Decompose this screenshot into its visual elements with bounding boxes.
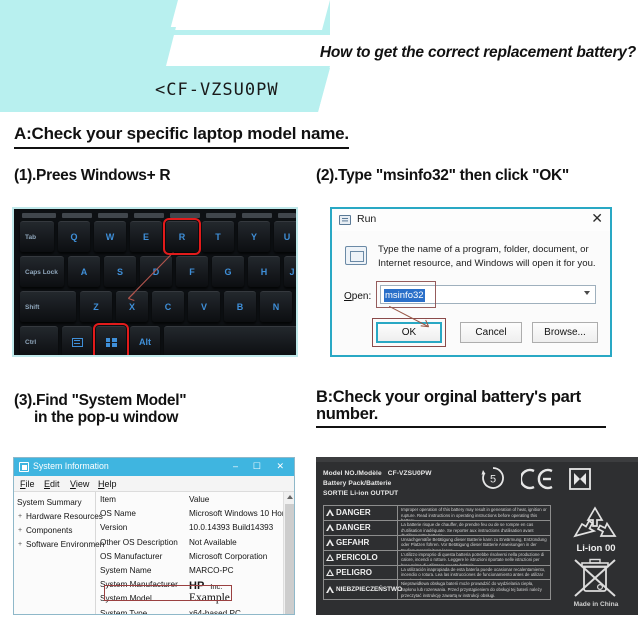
battery-model-block: Model NO./ModèleCF-VZSU0PW Battery Pack/…	[323, 469, 432, 500]
cancel-button[interactable]: Cancel	[460, 322, 522, 343]
step-1-label: (1).Prees Windows+ R	[14, 167, 170, 184]
key-w[interactable]: W	[94, 221, 126, 252]
vertical-scrollbar[interactable]	[283, 492, 294, 614]
step-3-label: (3).Find "System Model" in the pop-u win…	[14, 392, 186, 427]
open-label: Open:	[344, 291, 371, 302]
warning-triangle-icon	[326, 524, 334, 531]
table-row[interactable]: OS Manufacturer Microsoft Corporation	[97, 552, 283, 566]
chevron-down-icon[interactable]	[584, 291, 590, 295]
key-e[interactable]: E	[130, 221, 162, 252]
menu-icon[interactable]	[62, 326, 92, 357]
rohs-5-icon: 5	[481, 466, 505, 490]
windows-icon[interactable]	[96, 326, 126, 357]
row-value: Not Available	[189, 538, 237, 547]
row-item: System Name	[100, 566, 151, 575]
row-value: MARCO-PC	[189, 566, 234, 575]
key-r[interactable]: R	[166, 221, 198, 252]
key-caps-lock[interactable]: Caps Lock	[20, 256, 64, 287]
menu-help[interactable]: Help	[98, 479, 117, 489]
battery-pack-label: Battery Pack/Batterie	[323, 479, 432, 489]
recycle-triangle-icon	[568, 505, 622, 541]
section-a-title: A:Check your specific laptop model name.	[14, 124, 349, 149]
run-dialog: Run ✕ Type the name of a program, folder…	[330, 207, 612, 357]
key-y[interactable]: Y	[238, 221, 270, 252]
scrollbar-thumb[interactable]	[285, 504, 294, 615]
scroll-up-icon[interactable]	[287, 495, 293, 499]
warning-language: GEFAHR	[324, 536, 398, 550]
warning-language: PERICOLO	[324, 551, 398, 565]
warning-text: La batterie risque de chauffer, de prend…	[398, 521, 550, 535]
run-info-icon	[345, 246, 367, 265]
sysinfo-tree: System Summary Hardware Resources Compon…	[14, 492, 96, 614]
key-t[interactable]: T	[202, 221, 234, 252]
key-z[interactable]: Z	[80, 291, 112, 322]
system-information-window: System Information – ☐ ✕ File Edit View …	[13, 457, 295, 615]
battery-chemistry-label: Li-ion 00	[564, 543, 628, 554]
row-item: OS Manufacturer	[100, 552, 162, 561]
run-message: Type the name of a program, folder, docu…	[378, 243, 600, 270]
row-item: System Type	[100, 609, 147, 616]
warning-text: Nieprawidłowa obsługa baterii może prowa…	[398, 580, 550, 599]
page-header: How to get the correct replacement batte…	[0, 0, 640, 112]
key-j[interactable]: J	[284, 256, 298, 287]
row-value: Microsoft Windows 10 Home	[189, 509, 293, 518]
sysinfo-title: System Information	[33, 461, 109, 471]
warning-language: PELIGRO	[324, 566, 398, 580]
battery-model-label: Model NO./Modèle	[323, 470, 382, 477]
menu-view[interactable]: View	[70, 479, 89, 489]
warning-row: PELIGRO La utilización inapropiada de es…	[324, 566, 550, 581]
battery-warning-table: DANGER Improper operation of this batter…	[323, 505, 551, 600]
key-ctrl[interactable]: Ctrl	[20, 326, 58, 357]
battery-model-value: CF-VZSU0PW	[388, 470, 432, 477]
row-value: Microsoft Corporation	[189, 552, 267, 561]
table-row[interactable]: System Type x64-based PC	[97, 609, 283, 616]
warning-text: Improper operation of this battery may r…	[398, 506, 550, 520]
warning-text: L'utilizzo improprio di questa batteria …	[398, 551, 550, 565]
svg-text:5: 5	[490, 474, 496, 486]
key-b[interactable]: B	[224, 291, 256, 322]
recycle-box-icon	[569, 468, 591, 490]
key-h[interactable]: H	[248, 256, 280, 287]
warning-language: NIEBZPIECZEŃSTWO	[324, 580, 398, 599]
column-header-item: Item	[100, 495, 116, 504]
warning-row: NIEBZPIECZEŃSTWO Nieprawidłowa obsługa b…	[324, 580, 550, 599]
run-titlebar: Run ✕	[332, 209, 610, 231]
row-item: Other OS Description	[100, 538, 178, 547]
weee-crossed-bin-icon	[572, 557, 618, 599]
key-v[interactable]: V	[188, 291, 220, 322]
key-c[interactable]: C	[152, 291, 184, 322]
keyboard-illustration: Tab Q W E R T Y U Caps Lock A S D F G H …	[12, 207, 298, 357]
tree-item-system-summary[interactable]: System Summary	[17, 496, 95, 510]
warning-triangle-icon	[326, 509, 334, 516]
key-f[interactable]: F	[176, 256, 208, 287]
menu-file[interactable]: File	[20, 479, 35, 489]
browse-button[interactable]: Browse...	[532, 322, 598, 343]
warning-row: PERICOLO L'utilizzo improprio di questa …	[324, 551, 550, 566]
run-window-icon	[339, 215, 351, 225]
battery-label-photo: Model NO./ModèleCF-VZSU0PW Battery Pack/…	[316, 457, 638, 615]
battery-top-edge	[316, 457, 638, 462]
sysinfo-menubar: File Edit View Help	[14, 476, 294, 492]
column-header-value: Value	[189, 495, 209, 504]
warning-triangle-icon	[326, 569, 334, 576]
close-icon[interactable]: ✕	[591, 211, 603, 225]
table-row[interactable]: OS Name Microsoft Windows 10 Home	[97, 509, 283, 523]
warning-triangle-icon	[326, 586, 334, 593]
tree-item-hardware-resources[interactable]: Hardware Resources	[17, 510, 95, 524]
warning-language: DANGER	[324, 506, 398, 520]
origin-label: Made in China	[562, 601, 630, 608]
system-model-highlight-box	[104, 585, 232, 601]
tree-item-software-environment[interactable]: Software Environmen	[17, 538, 95, 552]
warning-row: GEFAHR Unsachgemäße Betätigung dieser Ba…	[324, 536, 550, 551]
ok-button[interactable]: OK	[376, 322, 442, 343]
section-b-title: B:Check your orginal battery's part numb…	[316, 389, 606, 428]
warning-row: DANGER La batterie risque de chauffer, d…	[324, 521, 550, 536]
warning-row: DANGER Improper operation of this batter…	[324, 506, 550, 521]
table-header: Item Value	[97, 495, 283, 509]
key-space[interactable]	[164, 326, 298, 357]
step-2-label: (2).Type "msinfo32" then click "OK"	[316, 167, 569, 184]
key-x[interactable]: X	[116, 291, 148, 322]
certification-marks: 5	[481, 466, 596, 492]
warning-triangle-icon	[326, 554, 334, 561]
sysinfo-window-icon	[19, 462, 29, 472]
header-model-tag: <CF-VZSU0PW	[155, 80, 279, 100]
table-row[interactable]: System Name MARCO-PC	[97, 566, 283, 580]
sysinfo-titlebar: System Information – ☐ ✕	[14, 458, 294, 476]
maximize-icon[interactable]: ☐	[253, 461, 261, 472]
key-a[interactable]: A	[68, 256, 100, 287]
warning-text: Unsachgemäße Betätigung dieser Batterie …	[398, 536, 550, 550]
key-shift[interactable]: Shift	[20, 291, 76, 322]
run-input-highlight	[376, 281, 436, 308]
tree-item-components[interactable]: Components	[17, 524, 95, 538]
key-g[interactable]: G	[212, 256, 244, 287]
table-row[interactable]: Other OS Description Not Available	[97, 538, 283, 552]
key-s[interactable]: S	[104, 256, 136, 287]
warning-triangle-icon	[326, 539, 334, 546]
key-alt[interactable]: Alt	[130, 326, 160, 357]
row-value: 10.0.14393 Build14393	[189, 523, 273, 532]
key-u[interactable]: U	[274, 221, 298, 252]
battery-output-label: SORTIE Li-ion OUTPUT	[323, 489, 432, 499]
key-tab[interactable]: Tab	[20, 221, 54, 252]
table-row[interactable]: Version 10.0.14393 Build14393	[97, 523, 283, 537]
warning-language: DANGER	[324, 521, 398, 535]
page-title: How to get the correct replacement batte…	[320, 44, 636, 62]
run-title: Run	[357, 213, 376, 225]
minimize-icon[interactable]: –	[233, 461, 238, 471]
menu-edit[interactable]: Edit	[44, 479, 60, 489]
row-value: x64-based PC	[189, 609, 241, 616]
key-q[interactable]: Q	[58, 221, 90, 252]
ce-mark-icon	[521, 468, 555, 490]
close-icon[interactable]: ✕	[276, 461, 284, 472]
key-d[interactable]: D	[140, 256, 172, 287]
key-n[interactable]: N	[260, 291, 292, 322]
row-item: Version	[100, 523, 127, 532]
row-item: OS Name	[100, 509, 136, 518]
warning-text: La utilización inapropiada de esta bater…	[398, 566, 550, 580]
